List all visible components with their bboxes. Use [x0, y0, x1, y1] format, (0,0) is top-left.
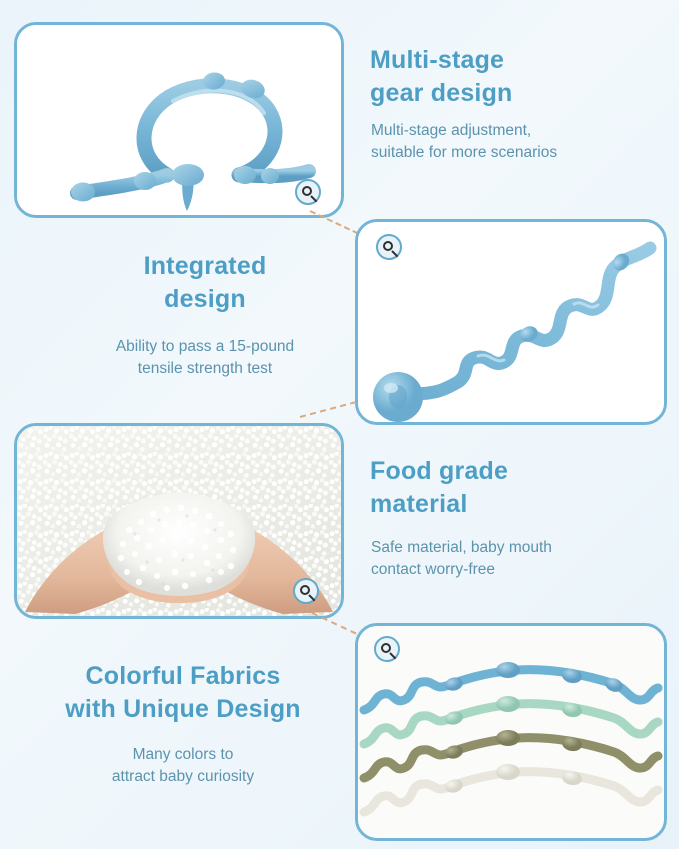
feature-photo-card-food-grade-material [14, 423, 344, 619]
photo-multi-stage-gear-design [17, 25, 341, 215]
magnifier-handle [391, 250, 398, 257]
connector-line-2 [300, 401, 357, 418]
body-line-2: contact worry-free [371, 559, 661, 581]
headline-line-1: Multi-stage [370, 44, 650, 77]
wavy-silicone-strap-illustration [358, 222, 664, 422]
magnifier-icon [374, 636, 400, 662]
feature-body-integrated-design: Ability to pass a 15-pound tensile stren… [60, 336, 350, 381]
four-colored-straps-illustration [358, 626, 664, 838]
photo-colorful-fabrics-unique-design [358, 626, 664, 838]
body-line-2: tensile strength test [60, 358, 350, 380]
magnifier-glass [300, 585, 310, 595]
photo-integrated-design [358, 222, 664, 422]
magnifier-glass [302, 186, 312, 196]
feature-body-multi-stage-gear-design: Multi-stage adjustment, suitable for mor… [371, 120, 661, 165]
magnifier-handle [310, 195, 317, 202]
feature-photo-card-colorful-fabrics-unique-design [355, 623, 667, 841]
feature-headline-food-grade-material: Food grade material [370, 455, 660, 520]
feature-body-food-grade-material: Safe material, baby mouth contact worry-… [371, 537, 661, 582]
body-line-1: Ability to pass a 15-pound [60, 336, 350, 358]
feature-photo-card-multi-stage-gear-design [14, 22, 344, 218]
body-line-1: Many colors to [18, 744, 348, 766]
body-line-1: Safe material, baby mouth [371, 537, 661, 559]
magnifier-handle [389, 652, 396, 659]
headline-line-1: Food grade [370, 455, 660, 488]
headline-line-2: material [370, 488, 660, 521]
body-line-2: suitable for more scenarios [371, 142, 661, 164]
body-line-2: attract baby curiosity [18, 766, 348, 788]
magnifier-icon [295, 179, 321, 205]
product-feature-infographic: Multi-stage gear design Multi-stage adju… [0, 0, 679, 849]
feature-headline-integrated-design: Integrated design [60, 250, 350, 315]
feature-body-colorful-fabrics-unique-design: Many colors to attract baby curiosity [18, 744, 348, 789]
magnifier-glass [383, 241, 393, 251]
headline-line-2: with Unique Design [18, 693, 348, 726]
magnifier-glass [381, 643, 391, 653]
headline-line-1: Integrated [60, 250, 350, 283]
body-line-1: Multi-stage adjustment, [371, 120, 661, 142]
feature-photo-card-integrated-design [355, 219, 667, 425]
silicone-loop-strap-illustration [17, 25, 341, 215]
headline-line-2: gear design [370, 77, 650, 110]
magnifier-handle [308, 594, 315, 601]
magnifier-icon [293, 578, 319, 604]
headline-line-2: design [60, 283, 350, 316]
headline-line-1: Colorful Fabrics [18, 660, 348, 693]
magnifier-icon [376, 234, 402, 260]
feature-headline-colorful-fabrics-unique-design: Colorful Fabrics with Unique Design [18, 660, 348, 725]
feature-headline-multi-stage-gear-design: Multi-stage gear design [370, 44, 650, 109]
